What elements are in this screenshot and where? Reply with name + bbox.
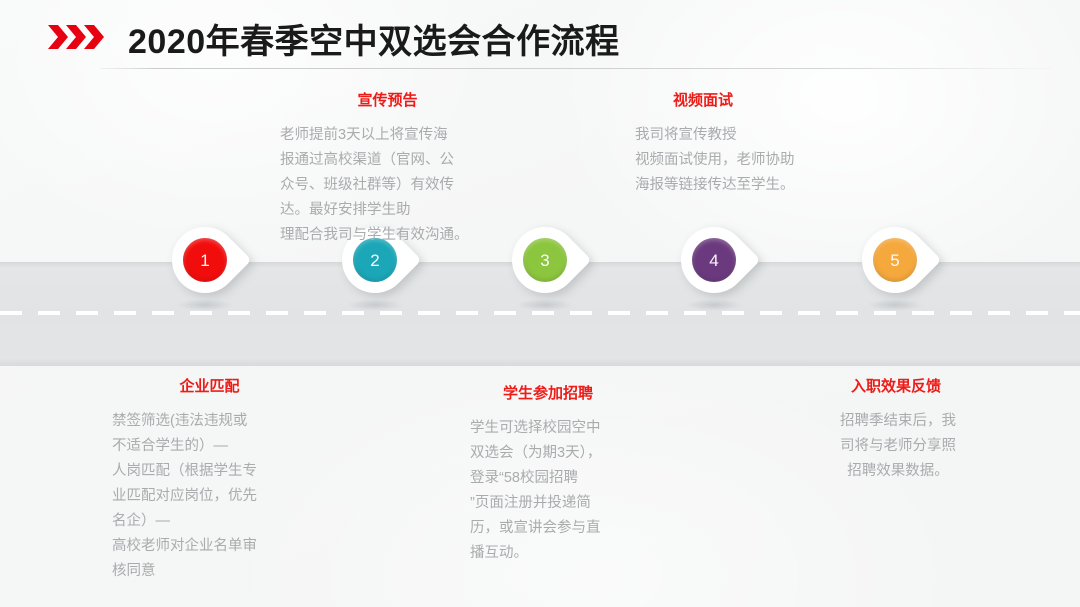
pin-drop-shadow: [867, 299, 923, 311]
pin-marker-3[interactable]: 3: [512, 227, 578, 315]
pin-number: 4: [709, 252, 718, 269]
step-block-5: 入职效果反馈 招聘季结束后，我 司将与老师分享照 招聘效果数据。: [820, 378, 970, 484]
step-title-2: 宣传预告: [280, 92, 495, 110]
slide-canvas: 2020年春季空中双选会合作流程 1 2 3 4: [0, 0, 1080, 607]
pin-circle: 1: [183, 238, 227, 282]
slide-header: 2020年春季空中双选会合作流程: [0, 0, 1080, 76]
pin-circle: 5: [873, 238, 917, 282]
step-block-3: 学生参加招聘 学生可选择校园空中 双选会（为期3天）， 登录“58校园招聘 ”页…: [470, 385, 630, 566]
pin-drop-shadow: [347, 299, 403, 311]
step-title-4: 视频面试: [635, 92, 840, 110]
pin-number: 2: [370, 252, 379, 269]
road-bottom-shadow: [0, 358, 1080, 366]
step-title-5: 入职效果反馈: [822, 378, 970, 396]
pin-marker-1[interactable]: 1: [172, 227, 238, 315]
page-title: 2020年春季空中双选会合作流程: [128, 14, 620, 63]
step-body-2: 老师提前3天以上将宣传海 报通过高校渠道（官网、公 众号、班级社群等）有效传 达…: [280, 123, 495, 248]
step-body-5: 招聘季结束后，我 司将与老师分享照 招聘效果数据。: [820, 409, 970, 484]
step-block-1: 企业匹配 禁签筛选(违法违规或 不适合学生的）— 人岗匹配（根据学生专 业匹配对…: [112, 378, 307, 584]
pin-number: 1: [200, 252, 209, 269]
pin-marker-4[interactable]: 4: [681, 227, 747, 315]
pin-number: 3: [540, 252, 549, 269]
step-block-2: 宣传预告 老师提前3天以上将宣传海 报通过高校渠道（官网、公 众号、班级社群等）…: [280, 92, 495, 248]
pin-circle: 4: [692, 238, 736, 282]
step-block-4: 视频面试 我司将宣传教授 视频面试使用，老师协助 海报等链接传达至学生。: [635, 92, 840, 198]
step-title-3: 学生参加招聘: [466, 385, 630, 403]
triple-chevron-right-icon: [46, 24, 108, 50]
pin-marker-5[interactable]: 5: [862, 227, 928, 315]
step-title-1: 企业匹配: [112, 378, 307, 396]
step-body-3: 学生可选择校园空中 双选会（为期3天）， 登录“58校园招聘 ”页面注册并投递简…: [470, 416, 630, 566]
pin-number: 5: [890, 252, 899, 269]
pin-circle: 3: [523, 238, 567, 282]
title-divider: [100, 68, 1052, 69]
pin-drop-shadow: [177, 299, 233, 311]
step-body-1: 禁签筛选(违法违规或 不适合学生的）— 人岗匹配（根据学生专 业匹配对应岗位，优…: [112, 409, 307, 584]
pin-drop-shadow: [686, 299, 742, 311]
step-body-4: 我司将宣传教授 视频面试使用，老师协助 海报等链接传达至学生。: [635, 123, 840, 198]
pin-drop-shadow: [517, 299, 573, 311]
